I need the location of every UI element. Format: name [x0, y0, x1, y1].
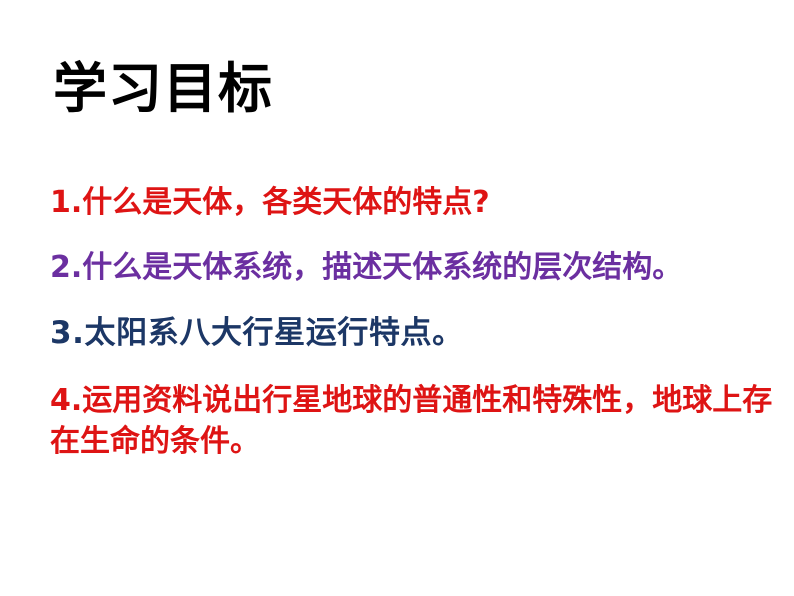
slide-canvas: 学习目标 1.什么是天体，各类天体的特点? 2.什么是天体系统，描述天体系统的层…: [0, 0, 794, 596]
objective-1-text: 1.什么是天体，各类天体的特点?: [50, 185, 490, 220]
list-item-objective-4: 4.运用资料说出行星地球的普通性和特殊性，地球上存在生命的条件。: [50, 380, 780, 462]
list-item-objective-1: 1.什么是天体，各类天体的特点?: [50, 182, 780, 224]
objective-4-text: 4.运用资料说出行星地球的普通性和特殊性，地球上存在生命的条件。: [50, 383, 772, 459]
page-title: 学习目标: [53, 57, 273, 121]
objective-3-text: 3.太阳系八大行星运行特点。: [50, 315, 464, 351]
objective-2-text: 2.什么是天体系统，描述天体系统的层次结构。: [50, 250, 682, 285]
list-item-objective-3: 3.太阳系八大行星运行特点。: [50, 312, 780, 354]
objective-list: 1.什么是天体，各类天体的特点? 2.什么是天体系统，描述天体系统的层次结构。 …: [50, 182, 780, 462]
list-item-objective-2: 2.什么是天体系统，描述天体系统的层次结构。: [50, 247, 780, 289]
